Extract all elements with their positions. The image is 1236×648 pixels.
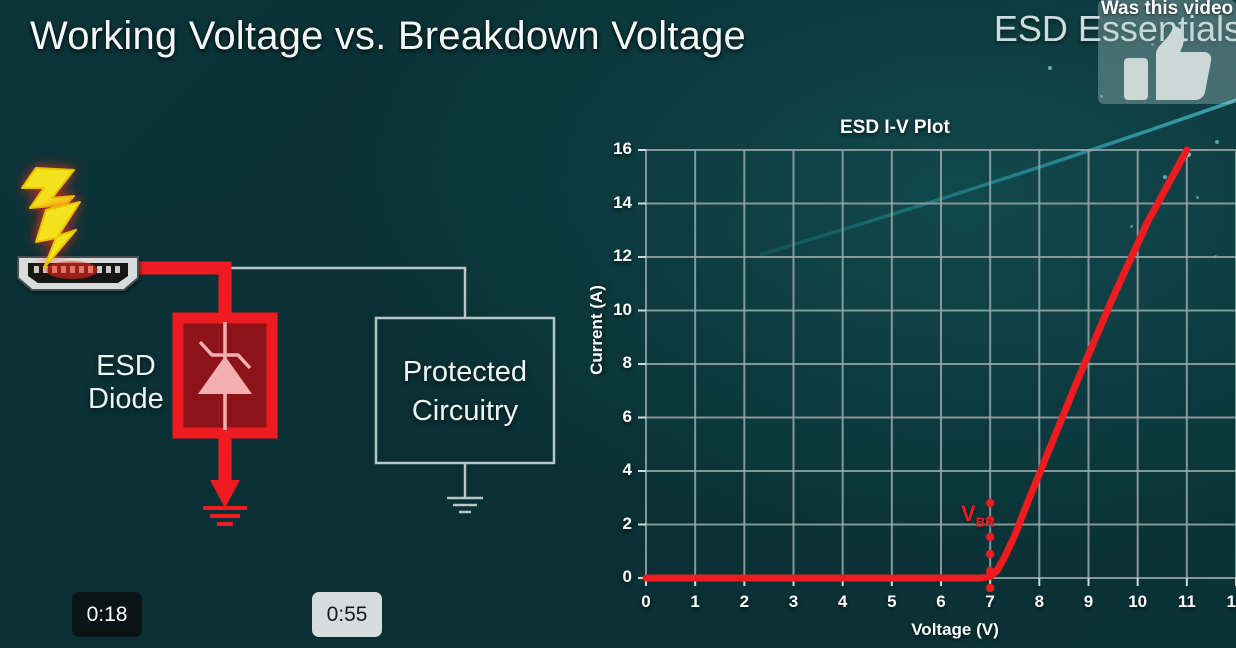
signal-trace bbox=[140, 268, 220, 318]
timestamp-badge-current[interactable]: 0:18 bbox=[72, 592, 142, 637]
signal-trace bbox=[220, 268, 465, 318]
vbr-subscript: BR bbox=[976, 514, 995, 529]
esd-protection-circuit-diagram: ESD Diode Protected Circuitry bbox=[0, 150, 600, 550]
ground-symbol-icon bbox=[447, 498, 483, 512]
current-arrow-icon bbox=[210, 480, 240, 508]
chart-gridlines bbox=[646, 150, 1236, 578]
chart-tickmarks bbox=[638, 150, 1236, 586]
protected-circuitry-label-line1: Protected bbox=[403, 356, 527, 388]
hdmi-connector-icon bbox=[18, 257, 138, 290]
breakdown-voltage-label: VBR bbox=[961, 501, 994, 529]
protected-circuitry-label-line2: Circuitry bbox=[412, 395, 518, 427]
vbr-symbol: V bbox=[961, 501, 976, 526]
esd-current-trace bbox=[128, 268, 225, 318]
esd-diode-label-line2: Diode bbox=[88, 383, 164, 415]
like-prompt-text: Was this video bbox=[1098, 0, 1236, 20]
esd-diode-label-line1: ESD bbox=[96, 350, 156, 382]
like-prompt-overlay[interactable]: Was this video bbox=[1098, 0, 1236, 104]
chart-plot-area bbox=[575, 105, 1236, 648]
protected-circuitry-label: Protected Circuitry bbox=[375, 353, 555, 431]
ground-symbol-icon bbox=[203, 508, 247, 524]
esd-iv-chart: ESD I-V Plot Current (A) Voltage (V) 024… bbox=[575, 105, 1236, 648]
page-title: Working Voltage vs. Breakdown Voltage bbox=[30, 14, 746, 59]
esd-diode-label: ESD Diode bbox=[88, 350, 164, 417]
timestamp-badge-marker[interactable]: 0:55 bbox=[312, 592, 382, 637]
thumbs-up-icon[interactable] bbox=[1122, 24, 1214, 102]
video-frame: Working Voltage vs. Breakdown Voltage ES… bbox=[0, 0, 1236, 648]
background-spark bbox=[1048, 66, 1052, 70]
